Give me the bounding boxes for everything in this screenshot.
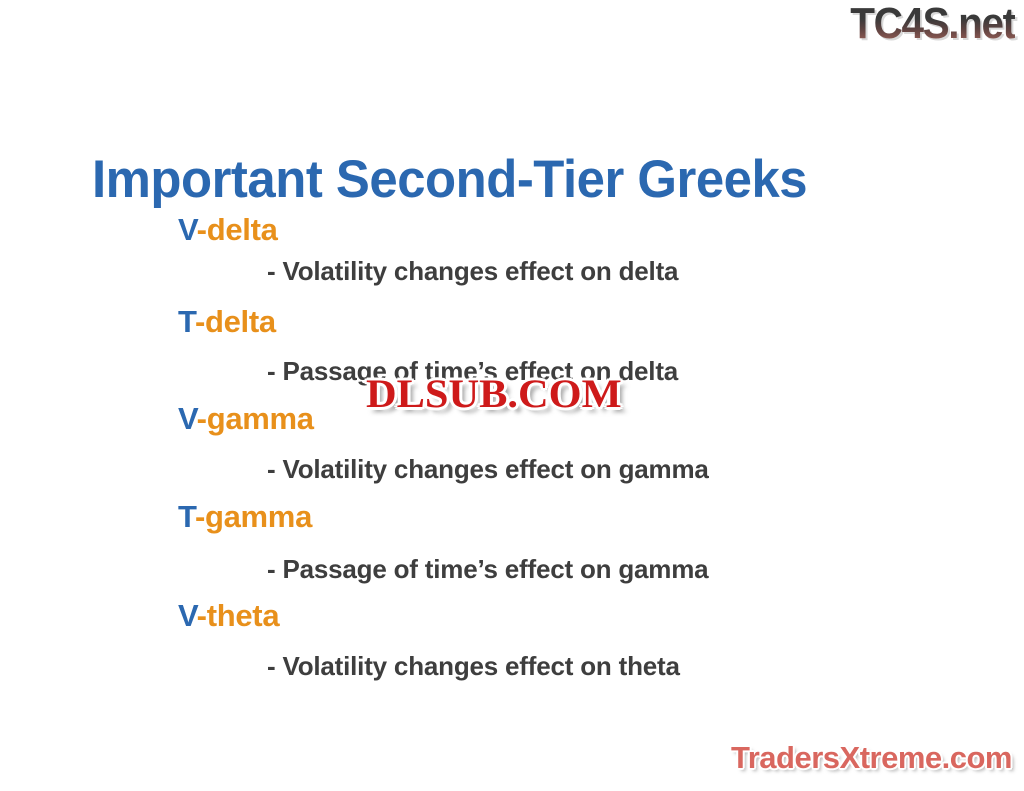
greek-heading: V-delta (178, 213, 278, 247)
greek-description: - Volatility changes effect on theta (267, 652, 680, 681)
greek-heading-prefix: T (178, 499, 195, 534)
greek-description: - Volatility changes effect on gamma (267, 455, 709, 484)
greek-heading-suffix: -gamma (195, 499, 312, 534)
greek-heading: V-gamma (178, 402, 314, 436)
greek-heading-suffix: -delta (195, 304, 276, 339)
greek-heading-suffix: -theta (197, 598, 280, 633)
greek-heading-prefix: V (178, 401, 197, 436)
greek-heading: T-delta (178, 305, 276, 339)
greek-description: - Passage of time’s effect on gamma (267, 555, 708, 584)
greek-heading-prefix: V (178, 598, 197, 633)
greek-heading: V-theta (178, 599, 279, 633)
greek-heading: T-gamma (178, 500, 312, 534)
presentation-slide: TC4S.net TC4S.net Important Second-Tier … (0, 0, 1024, 791)
greek-heading-prefix: V (178, 212, 197, 247)
greek-heading-prefix: T (178, 304, 195, 339)
greek-heading-suffix: -delta (197, 212, 278, 247)
greek-description: - Volatility changes effect on delta (267, 257, 678, 286)
center-watermark: DLSUB.COM (366, 374, 622, 414)
greek-heading-suffix: -gamma (197, 401, 314, 436)
slide-title: Important Second-Tier Greeks (92, 152, 807, 208)
bottom-watermark: TradersXtreme.com (731, 742, 1012, 773)
brand-logo: TC4S.net (851, 2, 1015, 46)
